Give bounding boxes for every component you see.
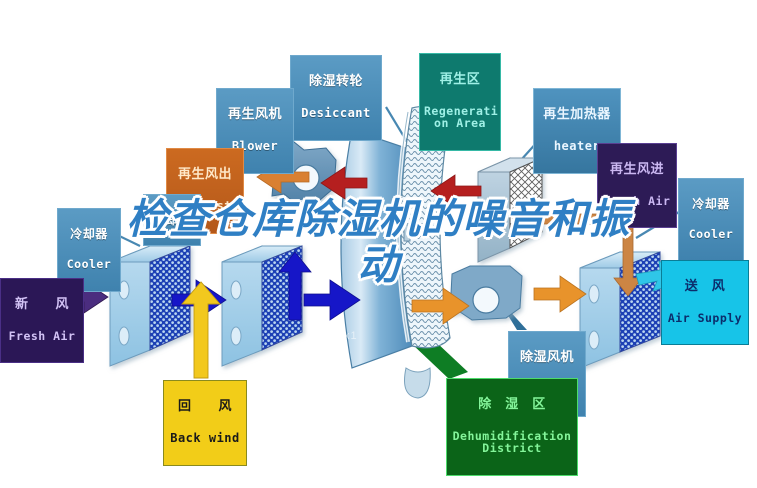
label-back-wind: 回 风 Back wind [163, 380, 247, 466]
label-regeneration-blower-cn: 再生风机 [221, 108, 289, 122]
cooler-block-3 [580, 252, 660, 368]
label-dehumidification-blower-cn: 除湿风机 [513, 351, 581, 365]
label-cooler-left-en: Cooler [62, 258, 116, 270]
label-dehumidification-district: 除 湿 区 Dehumidification District [446, 378, 578, 476]
label-air-supply-cn: 送 风 [666, 280, 744, 294]
label-exhaust-cn: 再生风出 [171, 168, 239, 182]
label-air-supply: 送 风 Air Supply [661, 260, 749, 345]
label-dehumidification-district-cn: 除 湿 区 [451, 398, 573, 412]
label-regeneration-area-cn: 再生区 [424, 73, 496, 87]
label-regeneration-area-en: Regenerati on Area [424, 105, 496, 130]
label-fresh-air-inlet: 新 风 Fresh Air [0, 278, 84, 363]
dehumidifier-process-diagram: x1 除湿转轮 Desiccant 再生风机 Blower 再生区 Regene… [0, 0, 757, 488]
label-dehumidification-district-en: Dehumidification District [451, 430, 573, 455]
label-cooler-right: 冷却器 Cooler [678, 178, 744, 262]
label-air-supply-en: Air Supply [666, 312, 744, 324]
label-regeneration-fresh-air-en: Fresh Air [602, 195, 672, 207]
watermark: x1 [344, 330, 358, 342]
label-regeneration-area: 再生区 Regenerati on Area [419, 53, 501, 151]
label-cooler-mid-cn: 冷却器 [148, 214, 196, 226]
label-regeneration-heater-cn: 再生加热器 [538, 108, 616, 122]
blower-out-arrow [534, 276, 586, 312]
label-regeneration-fresh-air-cn: 再生风进 [602, 163, 672, 177]
label-fresh-air-inlet-en: Fresh Air [5, 330, 79, 342]
label-fresh-air-inlet-cn: 新 风 [5, 298, 79, 312]
label-regeneration-fresh-air: 再生风进 Fresh Air [597, 143, 677, 228]
label-back-wind-cn: 回 风 [168, 400, 242, 414]
label-cooler-right-cn: 冷却器 [683, 198, 739, 211]
label-cooler-mid: 冷却器 [143, 194, 201, 246]
label-desiccant-wheel-en: Desiccant [295, 107, 377, 120]
label-back-wind-en: Back wind [168, 432, 242, 445]
label-desiccant-wheel: 除湿转轮 Desiccant [290, 55, 382, 141]
label-cooler-left-cn: 冷却器 [62, 228, 116, 241]
label-desiccant-wheel-cn: 除湿转轮 [295, 75, 377, 89]
label-cooler-right-en: Cooler [683, 228, 739, 240]
